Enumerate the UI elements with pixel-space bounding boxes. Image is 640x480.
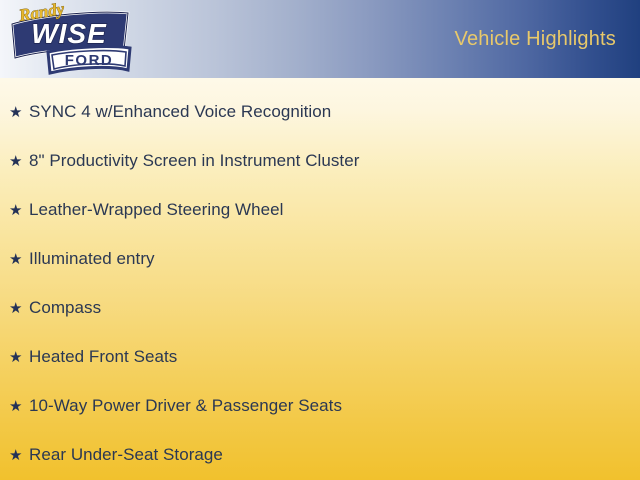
vehicle-highlights-list: ★ SYNC 4 w/Enhanced Voice Recognition ★ …	[0, 88, 640, 480]
feature-label: Heated Front Seats	[29, 347, 640, 367]
dealer-logo[interactable]: WISE Randy FORD	[6, 2, 138, 80]
feature-label: Compass	[29, 298, 640, 318]
star-bullet-icon: ★	[9, 448, 29, 463]
star-bullet-icon: ★	[9, 105, 29, 120]
list-item: ★ Heated Front Seats	[0, 333, 640, 382]
star-bullet-icon: ★	[9, 252, 29, 267]
feature-label: Leather-Wrapped Steering Wheel	[29, 200, 640, 220]
feature-label: 8" Productivity Screen in Instrument Clu…	[29, 151, 640, 171]
feature-label: 10-Way Power Driver & Passenger Seats	[29, 396, 640, 416]
feature-label: Rear Under-Seat Storage	[29, 445, 640, 465]
star-bullet-icon: ★	[9, 301, 29, 316]
svg-text:WISE: WISE	[31, 18, 107, 49]
list-item: ★ Compass	[0, 284, 640, 333]
list-item: ★ Leather-Wrapped Steering Wheel	[0, 186, 640, 235]
star-bullet-icon: ★	[9, 154, 29, 169]
star-bullet-icon: ★	[9, 399, 29, 414]
list-item: ★ Illuminated entry	[0, 235, 640, 284]
list-item: ★ 10-Way Power Driver & Passenger Seats	[0, 382, 640, 431]
header-band: WISE Randy FORD Vehicle Highlights	[0, 0, 640, 78]
star-bullet-icon: ★	[9, 350, 29, 365]
vehicle-highlights-slide: WISE Randy FORD Vehicle Highlights ★ SYN…	[0, 0, 640, 480]
star-bullet-icon: ★	[9, 203, 29, 218]
list-item: ★ Rear Under-Seat Storage	[0, 431, 640, 480]
svg-text:FORD: FORD	[65, 52, 114, 69]
list-item: ★ 8" Productivity Screen in Instrument C…	[0, 137, 640, 186]
page-title: Vehicle Highlights	[455, 28, 616, 51]
list-item: ★ SYNC 4 w/Enhanced Voice Recognition	[0, 88, 640, 137]
feature-label: Illuminated entry	[29, 249, 640, 269]
feature-label: SYNC 4 w/Enhanced Voice Recognition	[29, 102, 640, 122]
